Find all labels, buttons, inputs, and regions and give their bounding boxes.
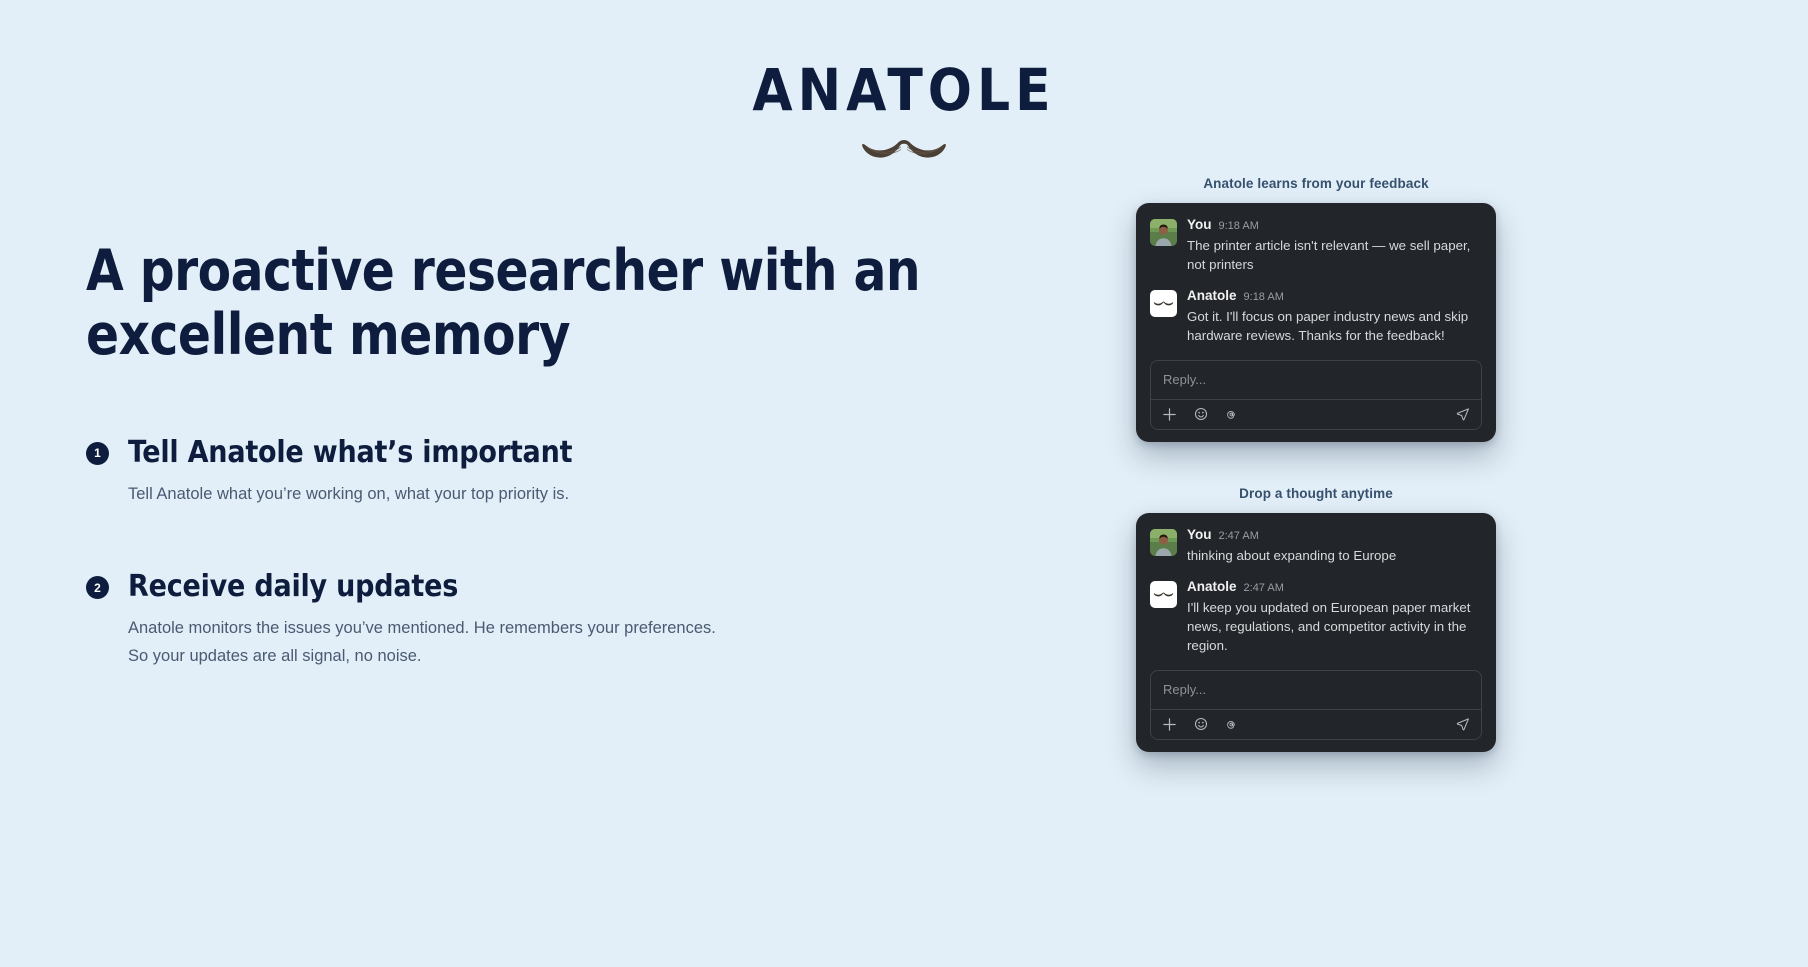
hero-section: A proactive researcher with an excellent… [86, 240, 1086, 671]
send-icon[interactable] [1454, 716, 1471, 733]
brand-logo: ANATOLE [0, 62, 1808, 162]
message-timestamp: 2:47 AM [1244, 582, 1284, 595]
step-description-1: Tell Anatole what you’re working on, wha… [128, 480, 1086, 508]
avatar [1150, 529, 1177, 556]
chat-message: Anatole 2:47 AM I'll keep you updated on… [1150, 579, 1482, 656]
message-text: The printer article isn't relevant — we … [1187, 237, 1482, 275]
send-icon[interactable] [1454, 406, 1471, 423]
step-description-line: Anatole monitors the issues you’ve menti… [128, 614, 1086, 642]
message-author: Anatole [1187, 579, 1237, 595]
card-caption-2: Drop a thought anytime [1136, 486, 1496, 501]
message-text: I'll keep you updated on European paper … [1187, 599, 1482, 656]
avatar [1150, 219, 1177, 246]
reply-input[interactable]: Reply... [1151, 361, 1481, 399]
message-timestamp: 9:18 AM [1244, 291, 1284, 304]
brand-wordmark: ANATOLE [0, 62, 1808, 120]
step-title-1: Tell Anatole what’s important [128, 436, 1086, 469]
message-timestamp: 2:47 AM [1219, 530, 1259, 543]
message-author: You [1187, 217, 1212, 233]
message-text: Got it. I'll focus on paper industry new… [1187, 308, 1482, 346]
step-description-line: So your updates are all signal, no noise… [128, 642, 1086, 670]
reply-input[interactable]: Reply... [1151, 671, 1481, 709]
chat-cards-column: Anatole learns from your feedback You [1136, 176, 1496, 752]
step-number-badge-1: 1 [86, 442, 109, 465]
chat-message: You 2:47 AM thinking about expanding to … [1150, 527, 1482, 566]
chat-card-1: You 9:18 AM The printer article isn't re… [1136, 203, 1496, 442]
mention-icon[interactable] [1223, 716, 1240, 733]
steps-list: 1 Tell Anatole what’s important Tell Ana… [86, 436, 1086, 671]
message-author: You [1187, 527, 1212, 543]
reply-toolbar [1151, 399, 1481, 429]
reply-toolbar [1151, 709, 1481, 739]
step-number-badge-2: 2 [86, 576, 109, 599]
emoji-icon[interactable] [1192, 716, 1209, 733]
chat-message: Anatole 9:18 AM Got it. I'll focus on pa… [1150, 288, 1482, 346]
step-title-2: Receive daily updates [128, 570, 1086, 603]
chat-card-group-1: Anatole learns from your feedback You [1136, 176, 1496, 442]
avatar [1150, 290, 1177, 317]
step-item-1: 1 Tell Anatole what’s important Tell Ana… [86, 436, 1086, 508]
mention-icon[interactable] [1223, 406, 1240, 423]
message-text: thinking about expanding to Europe [1187, 547, 1482, 566]
step-description-line: Tell Anatole what you’re working on, wha… [128, 480, 1086, 508]
chat-card-group-2: Drop a thought anytime You [1136, 486, 1496, 752]
chat-card-2: You 2:47 AM thinking about expanding to … [1136, 513, 1496, 752]
message-author: Anatole [1187, 288, 1237, 304]
step-description-2: Anatole monitors the issues you’ve menti… [128, 614, 1086, 671]
avatar [1150, 581, 1177, 608]
reply-composer-1[interactable]: Reply... [1150, 360, 1482, 430]
plus-icon[interactable] [1161, 716, 1178, 733]
emoji-icon[interactable] [1192, 406, 1209, 423]
page-title: A proactive researcher with an excellent… [86, 240, 1036, 368]
chat-message: You 9:18 AM The printer article isn't re… [1150, 217, 1482, 275]
reply-composer-2[interactable]: Reply... [1150, 670, 1482, 740]
mustache-icon [0, 128, 1808, 162]
card-caption-1: Anatole learns from your feedback [1136, 176, 1496, 191]
message-timestamp: 9:18 AM [1219, 220, 1259, 233]
plus-icon[interactable] [1161, 406, 1178, 423]
step-item-2: 2 Receive daily updates Anatole monitors… [86, 570, 1086, 671]
